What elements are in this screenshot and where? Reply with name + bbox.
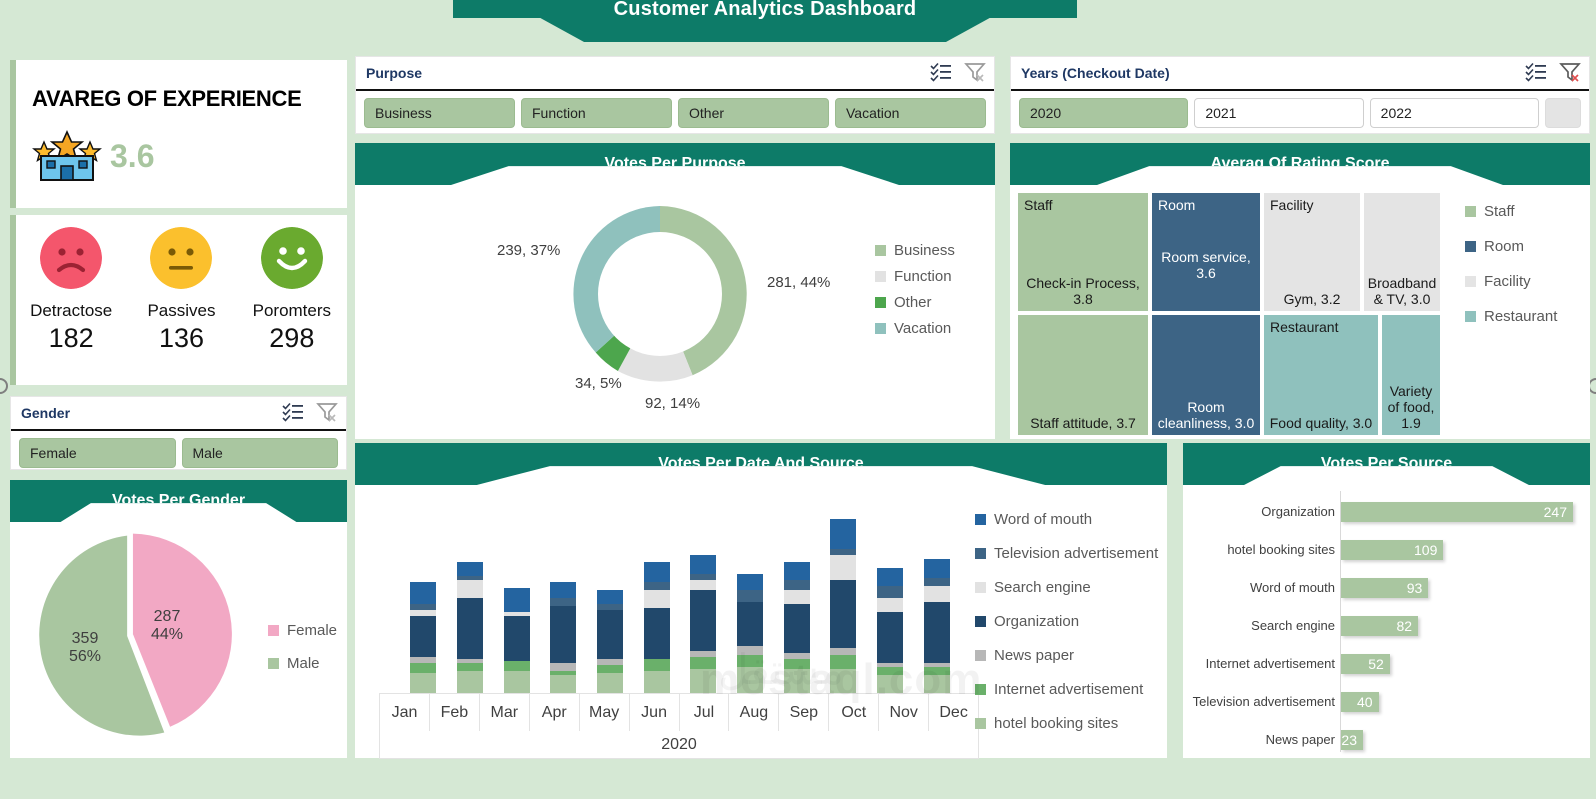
bar-category-label: Organization <box>1183 493 1335 531</box>
treemap-tile-label: Gym, 3.2 <box>1264 291 1360 307</box>
pie-label-male-value: 359 <box>50 630 120 648</box>
treemap-group-label: Room <box>1158 197 1195 213</box>
legend-item[interactable]: Vacation <box>875 320 955 337</box>
stacked-segment[interactable] <box>690 669 716 693</box>
bar-value-label: 82 <box>1396 618 1418 634</box>
x-axis-tick-label: Aug <box>729 694 779 731</box>
legend-item[interactable]: Restaurant <box>1465 308 1557 325</box>
stacked-segment[interactable] <box>504 616 530 662</box>
stacked-segment[interactable] <box>830 648 856 656</box>
stacked-segment[interactable] <box>457 580 483 598</box>
legend-item[interactable]: Facility <box>1465 273 1557 290</box>
nps-group: Detractose 182 Passives 136 <box>16 227 347 354</box>
stacked-segment[interactable] <box>784 562 810 580</box>
stacked-segment[interactable] <box>597 610 623 659</box>
stacked-segment[interactable] <box>924 578 950 586</box>
bar-category-label: hotel booking sites <box>1183 531 1335 569</box>
slicer-icon-group <box>930 62 986 82</box>
donut-label-vacation: 239, 37% <box>497 242 560 259</box>
stacked-segment[interactable] <box>690 590 716 651</box>
stacked-column[interactable] <box>410 582 436 693</box>
x-axis-tick-label: Jun <box>630 694 680 731</box>
legend-swatch-hotel-booking-sites <box>975 718 986 729</box>
left-edge-marker <box>0 378 8 394</box>
nps-value: 182 <box>49 323 94 354</box>
treemap-group-label: Restaurant <box>1270 319 1338 335</box>
treemap-tile-label: Staff attitude, 3.7 <box>1018 415 1148 431</box>
bar-row[interactable]: Television advertisement40 <box>1183 683 1590 721</box>
stacked-segment[interactable] <box>597 590 623 604</box>
slicer-items: 2020 2021 2022 <box>1011 91 1589 135</box>
bar-row[interactable]: Internet advertisement52 <box>1183 645 1590 683</box>
nps-label: Passives <box>147 301 215 321</box>
pie-label-female: 287 44% <box>132 608 202 645</box>
stacked-segment[interactable] <box>410 616 436 658</box>
bar[interactable]: 52 <box>1341 654 1390 674</box>
stacked-column[interactable] <box>924 559 950 693</box>
stacked-segment[interactable] <box>550 598 576 606</box>
x-axis-tick-label: Dec <box>929 694 978 731</box>
donut-label-function: 92, 14% <box>645 395 700 412</box>
chart-card-votes-per-purpose: Votes Per Purpose 281, 44% 92, 14% 34, 5… <box>355 143 995 439</box>
legend-swatch-restaurant <box>1465 311 1476 322</box>
stacked-segment[interactable] <box>877 675 903 693</box>
legend-swatch-room <box>1465 241 1476 252</box>
chart-title-votes-per-date-and-source: Votes Per Date And Source <box>355 443 1167 485</box>
chart-title-average-rating-score: Averag Of Rating Score <box>1010 143 1590 185</box>
legend-swatch-organization <box>975 616 986 627</box>
stacked-segment[interactable] <box>924 586 950 602</box>
kpi-title: AVAREG OF EXPERIENCE <box>32 86 301 112</box>
stacked-column[interactable] <box>504 588 530 693</box>
slicer-purpose[interactable]: Purpose Business Function Other <box>355 56 995 134</box>
treemap-tile-label: Broadband & TV, 3.0 <box>1364 275 1440 307</box>
legend-label: Word of mouth <box>994 511 1092 528</box>
stacked-segment[interactable] <box>737 590 763 602</box>
stacked-column-x-axis: JanFebMarAprMayJunJulAugSepOctNovDec <box>379 693 979 731</box>
bar-category-label: News paper <box>1183 721 1335 759</box>
stacked-segment[interactable] <box>830 555 856 581</box>
stacked-segment[interactable] <box>924 559 950 579</box>
legend-label: Television advertisement <box>994 545 1158 562</box>
legend-swatch-vacation <box>875 323 886 334</box>
bar-value-label: 23 <box>1341 732 1363 748</box>
clear-filter-icon[interactable] <box>964 62 986 82</box>
x-axis-tick-label: Oct <box>829 694 879 731</box>
stacked-segment[interactable] <box>644 671 670 693</box>
legend-item[interactable]: hotel booking sites <box>975 715 1158 732</box>
chart-card-average-rating-score: Averag Of Rating Score Staff Check-in Pr… <box>1010 143 1590 439</box>
stacked-segment[interactable] <box>504 588 530 612</box>
bar-value-label: 109 <box>1414 542 1443 558</box>
stacked-segment[interactable] <box>410 673 436 693</box>
legend-label: Function <box>894 268 952 285</box>
treemap-tile-gym[interactable]: Facility Gym, 3.2 <box>1264 193 1360 311</box>
stacked-segment[interactable] <box>457 663 483 671</box>
x-axis-tick-label: Feb <box>430 694 480 731</box>
legend-item[interactable]: Function <box>875 268 955 285</box>
stacked-segment[interactable] <box>737 602 763 646</box>
page-title-text: Customer Analytics Dashboard <box>614 0 917 21</box>
chart-card-votes-per-source: Votes Per Source Organization247hotel bo… <box>1183 443 1590 758</box>
legend-label: News paper <box>994 647 1074 664</box>
stacked-segment[interactable] <box>410 582 436 604</box>
treemap-tile-label: Room cleanliness, 3.0 <box>1152 399 1260 431</box>
x-axis-tick-label: Mar <box>480 694 530 731</box>
bar-value-label: 40 <box>1357 694 1379 710</box>
neutral-face-icon <box>150 227 212 289</box>
treemap-group-label: Staff <box>1024 197 1053 213</box>
bar[interactable]: 82 <box>1341 616 1418 636</box>
legend-label: hotel booking sites <box>994 715 1118 732</box>
stacked-column[interactable] <box>830 519 856 693</box>
legend-item[interactable]: Organization <box>975 613 1158 630</box>
treemap-tile-broadband-tv[interactable]: Broadband & TV, 3.0 <box>1364 193 1440 311</box>
treemap-tile-variety-of-food[interactable]: Variety of food, 1.9 <box>1382 315 1440 435</box>
kpi-card-nps: Detractose 182 Passives 136 <box>10 215 347 385</box>
stacked-segment[interactable] <box>457 562 483 576</box>
x-axis-tick-label: May <box>580 694 630 731</box>
stacked-segment[interactable] <box>690 657 716 669</box>
donut-label-business: 281, 44% <box>767 274 830 291</box>
legend-label: Vacation <box>894 320 951 337</box>
chart-title-votes-per-purpose: Votes Per Purpose <box>355 143 995 185</box>
stacked-segment[interactable] <box>784 590 810 604</box>
chart-title-text: Votes Per Source <box>1321 455 1452 473</box>
stacked-segment[interactable] <box>784 659 810 669</box>
stacked-segment[interactable] <box>690 580 716 590</box>
legend-votes-per-date-and-source: Word of mouth Television advertisement S… <box>975 511 1158 741</box>
treemap-tile-food-quality[interactable]: Restaurant Food quality, 3.0 <box>1264 315 1378 435</box>
bar[interactable]: 40 <box>1341 692 1379 712</box>
bar[interactable]: 23 <box>1341 730 1363 750</box>
kpi-card-average-experience: AVAREG OF EXPERIENCE 3.6 <box>10 60 347 208</box>
stacked-segment[interactable] <box>597 673 623 693</box>
legend-votes-per-purpose: Business Function Other Vacation <box>875 242 955 346</box>
stacked-segment[interactable] <box>877 586 903 598</box>
stacked-segment[interactable] <box>644 659 670 671</box>
slicer-item-vacation[interactable]: Vacation <box>835 98 986 128</box>
stacked-column[interactable] <box>550 582 576 693</box>
donut-label-other: 34, 5% <box>575 375 622 392</box>
treemap-tile-label: Check-in Process, 3.8 <box>1018 275 1148 307</box>
legend-swatch-facility <box>1465 276 1476 287</box>
stacked-segment[interactable] <box>737 655 763 667</box>
slicer-items: Female Male <box>11 431 346 475</box>
stacked-column[interactable] <box>690 555 716 693</box>
legend-item[interactable]: Male <box>268 655 337 672</box>
stacked-segment[interactable] <box>644 590 670 608</box>
nps-label: Poromters <box>253 301 331 321</box>
stacked-column-x-axis-group: 2020 <box>379 731 979 759</box>
bar-row[interactable]: Search engine82 <box>1183 607 1590 645</box>
stacked-column[interactable] <box>737 574 763 693</box>
legend-swatch-male <box>268 658 279 669</box>
pie-label-female-percent: 44% <box>132 626 202 644</box>
stacked-segment[interactable] <box>830 519 856 549</box>
legend-swatch-search-engine <box>975 582 986 593</box>
x-axis-tick-label: Jan <box>380 694 430 731</box>
stacked-column[interactable] <box>784 562 810 693</box>
bar-row[interactable]: Organization247 <box>1183 493 1590 531</box>
pie-label-female-value: 287 <box>132 608 202 626</box>
stacked-segment[interactable] <box>504 671 530 693</box>
treemap-tile-room-service[interactable]: Room Room service, 3.6 <box>1152 193 1260 311</box>
legend-label: Male <box>287 655 320 672</box>
slicer-item-2020[interactable]: 2020 <box>1019 98 1188 128</box>
legend-swatch-business <box>875 245 886 256</box>
hotel-stars-icon <box>32 130 102 182</box>
legend-swatch-female <box>268 625 279 636</box>
happy-face-icon <box>261 227 323 289</box>
stacked-segment[interactable] <box>784 669 810 693</box>
stacked-segment[interactable] <box>877 667 903 675</box>
stacked-segment[interactable] <box>550 582 576 598</box>
chart-title-text: Averag Of Rating Score <box>1210 155 1389 173</box>
pie-label-male: 359 56% <box>50 630 120 667</box>
multi-select-icon[interactable] <box>1525 62 1547 82</box>
bar-value-label: 247 <box>1544 504 1573 520</box>
chart-title-text: Votes Per Gender <box>112 492 245 510</box>
slicer-item-empty <box>1545 98 1581 128</box>
chart-card-votes-per-gender: Votes Per Gender 287 44% 359 56% Female <box>10 480 347 758</box>
legend-item[interactable]: Search engine <box>975 579 1158 596</box>
pie-chart-gender: 287 44% 359 56% <box>20 525 242 747</box>
legend-item[interactable]: Female <box>268 622 337 639</box>
treemap-group-label: Facility <box>1270 197 1314 213</box>
legend-swatch-word-of-mouth <box>975 514 986 525</box>
donut-chart: 281, 44% 92, 14% 34, 5% 239, 37% <box>555 189 765 399</box>
bar[interactable]: 247 <box>1341 502 1573 522</box>
slicer-header: Years (Checkout Date) <box>1011 57 1589 91</box>
slicer-item-other[interactable]: Other <box>678 98 829 128</box>
treemap-tile-label: Room service, 3.6 <box>1152 249 1260 281</box>
slicer-item-male[interactable]: Male <box>182 438 339 468</box>
stacked-segment[interactable] <box>690 555 716 575</box>
stacked-segment[interactable] <box>830 580 856 647</box>
multi-select-icon[interactable] <box>282 402 304 422</box>
legend-label: Facility <box>1484 273 1531 290</box>
stacked-segment[interactable] <box>644 562 670 582</box>
chart-title-text: Votes Per Purpose <box>604 155 745 173</box>
legend-label: Search engine <box>994 579 1091 596</box>
treemap-tile-staff-attitude[interactable]: Staff attitude, 3.7 <box>1018 315 1148 435</box>
stacked-segment[interactable] <box>924 675 950 693</box>
stacked-column[interactable] <box>877 568 903 693</box>
stacked-segment[interactable] <box>550 663 576 671</box>
slicer-item-business[interactable]: Business <box>364 98 515 128</box>
legend-swatch-function <box>875 271 886 282</box>
stacked-column[interactable] <box>644 562 670 693</box>
pie-label-male-percent: 56% <box>50 648 120 666</box>
slicer-item-function[interactable]: Function <box>521 98 672 128</box>
nps-value: 136 <box>159 323 204 354</box>
slicer-years[interactable]: Years (Checkout Date) 2020 2021 20 <box>1010 56 1590 134</box>
legend-label: Restaurant <box>1484 308 1557 325</box>
treemap-tile-label: Food quality, 3.0 <box>1264 415 1378 431</box>
slicer-header: Gender <box>11 397 346 431</box>
multi-select-icon[interactable] <box>930 62 952 82</box>
stacked-column[interactable] <box>597 590 623 693</box>
legend-label: Staff <box>1484 203 1515 220</box>
nps-value: 298 <box>269 323 314 354</box>
bar-row[interactable]: Word of mouth93 <box>1183 569 1590 607</box>
clear-filter-icon[interactable] <box>316 402 338 422</box>
legend-swatch-news-paper <box>975 650 986 661</box>
slicer-items: Business Function Other Vacation <box>356 91 994 135</box>
stacked-segment[interactable] <box>550 606 576 663</box>
dashboard-canvas: Customer Analytics Dashboard AVAREG OF E… <box>0 0 1596 799</box>
bar-row[interactable]: hotel booking sites109 <box>1183 531 1590 569</box>
x-axis-tick-label: Apr <box>530 694 580 731</box>
legend-item[interactable]: Internet advertisement <box>975 681 1158 698</box>
treemap-tile-label: Variety of food, 1.9 <box>1382 383 1440 431</box>
treemap-tile-room-cleanliness[interactable]: Room cleanliness, 3.0 <box>1152 315 1260 435</box>
slicer-item-2022[interactable]: 2022 <box>1370 98 1539 128</box>
legend-label: Internet advertisement <box>994 681 1143 698</box>
legend-item[interactable]: News paper <box>975 647 1158 664</box>
stacked-segment[interactable] <box>830 669 856 693</box>
legend-item[interactable]: Word of mouth <box>975 511 1158 528</box>
stacked-segment[interactable] <box>457 598 483 659</box>
bar-category-label: Television advertisement <box>1183 683 1335 721</box>
sad-face-icon <box>40 227 102 289</box>
bar[interactable]: 93 <box>1341 578 1428 598</box>
stacked-column[interactable] <box>457 562 483 693</box>
bar-category-label: Word of mouth <box>1183 569 1335 607</box>
legend-swatch-television-advertisement <box>975 548 986 559</box>
slicer-item-female[interactable]: Female <box>19 438 176 468</box>
legend-label: Female <box>287 622 337 639</box>
legend-swatch-internet-advertisement <box>975 684 986 695</box>
slicer-icon-group <box>282 402 338 422</box>
clear-filter-icon[interactable] <box>1559 62 1581 82</box>
nps-promoters: Poromters 298 <box>237 227 347 354</box>
legend-item[interactable]: Other <box>875 294 955 311</box>
donut-svg <box>555 189 765 399</box>
legend-item[interactable]: Room <box>1465 238 1557 255</box>
slicer-title: Years (Checkout Date) <box>1021 65 1170 81</box>
stacked-segment[interactable] <box>877 612 903 663</box>
legend-swatch-staff <box>1465 206 1476 217</box>
chart-title-text: Votes Per Date And Source <box>658 455 863 473</box>
bar[interactable]: 109 <box>1341 540 1443 560</box>
bar-value-label: 52 <box>1368 656 1390 672</box>
stacked-segment[interactable] <box>644 582 670 590</box>
legend-item[interactable]: Business <box>875 242 955 259</box>
legend-item[interactable]: Television advertisement <box>975 545 1158 562</box>
stacked-segment[interactable] <box>457 671 483 693</box>
slicer-gender[interactable]: Gender Female Male <box>10 396 347 470</box>
stacked-segment[interactable] <box>830 655 856 669</box>
legend-votes-per-gender: Female Male <box>268 622 337 681</box>
treemap-tile-check-in-process[interactable]: Staff Check-in Process, 3.8 <box>1018 193 1148 311</box>
card-accent-bar <box>10 60 16 208</box>
page-title: Customer Analytics Dashboard <box>453 0 1077 42</box>
x-axis-tick-label: Sep <box>779 694 829 731</box>
legend-swatch-other <box>875 297 886 308</box>
slicer-title: Purpose <box>366 65 422 81</box>
nps-detractors: Detractose 182 <box>16 227 126 354</box>
stacked-segment[interactable] <box>924 602 950 663</box>
x-axis-tick-label: Jul <box>680 694 730 731</box>
bar-value-label: 93 <box>1407 580 1429 596</box>
stacked-segment[interactable] <box>410 663 436 673</box>
legend-label: Room <box>1484 238 1524 255</box>
slicer-item-2021[interactable]: 2021 <box>1194 98 1363 128</box>
stacked-segment[interactable] <box>550 675 576 693</box>
stacked-segment[interactable] <box>784 580 810 590</box>
legend-item[interactable]: Staff <box>1465 203 1557 220</box>
bar-row[interactable]: News paper23 <box>1183 721 1590 759</box>
stacked-segment[interactable] <box>877 598 903 612</box>
stacked-segment[interactable] <box>597 665 623 673</box>
bar-category-label: Search engine <box>1183 607 1335 645</box>
chart-card-votes-per-date-and-source: Votes Per Date And Source JanFebMarAprMa… <box>355 443 1167 758</box>
x-axis-tick-label: Nov <box>879 694 929 731</box>
slicer-icon-group <box>1525 62 1581 82</box>
stacked-segment[interactable] <box>784 604 810 653</box>
chart-title-votes-per-gender: Votes Per Gender <box>10 480 347 522</box>
legend-label: Other <box>894 294 932 311</box>
stacked-segment[interactable] <box>924 667 950 675</box>
chart-title-votes-per-source: Votes Per Source <box>1183 443 1590 485</box>
slicer-title: Gender <box>21 405 70 421</box>
stacked-column-plot <box>400 498 960 693</box>
kpi-value: 3.6 <box>110 138 154 175</box>
slicer-header: Purpose <box>356 57 994 91</box>
stacked-segment[interactable] <box>737 646 763 656</box>
nps-passives: Passives 136 <box>126 227 236 354</box>
stacked-segment[interactable] <box>737 574 763 590</box>
legend-label: Organization <box>994 613 1079 630</box>
stacked-segment[interactable] <box>737 667 763 693</box>
legend-label: Business <box>894 242 955 259</box>
bar-category-label: Internet advertisement <box>1183 645 1335 683</box>
stacked-segment[interactable] <box>644 608 670 659</box>
stacked-segment[interactable] <box>504 661 530 671</box>
stacked-segment[interactable] <box>877 568 903 586</box>
legend-average-rating-score: Staff Room Facility Restaurant <box>1465 203 1557 334</box>
nps-label: Detractose <box>30 301 112 321</box>
